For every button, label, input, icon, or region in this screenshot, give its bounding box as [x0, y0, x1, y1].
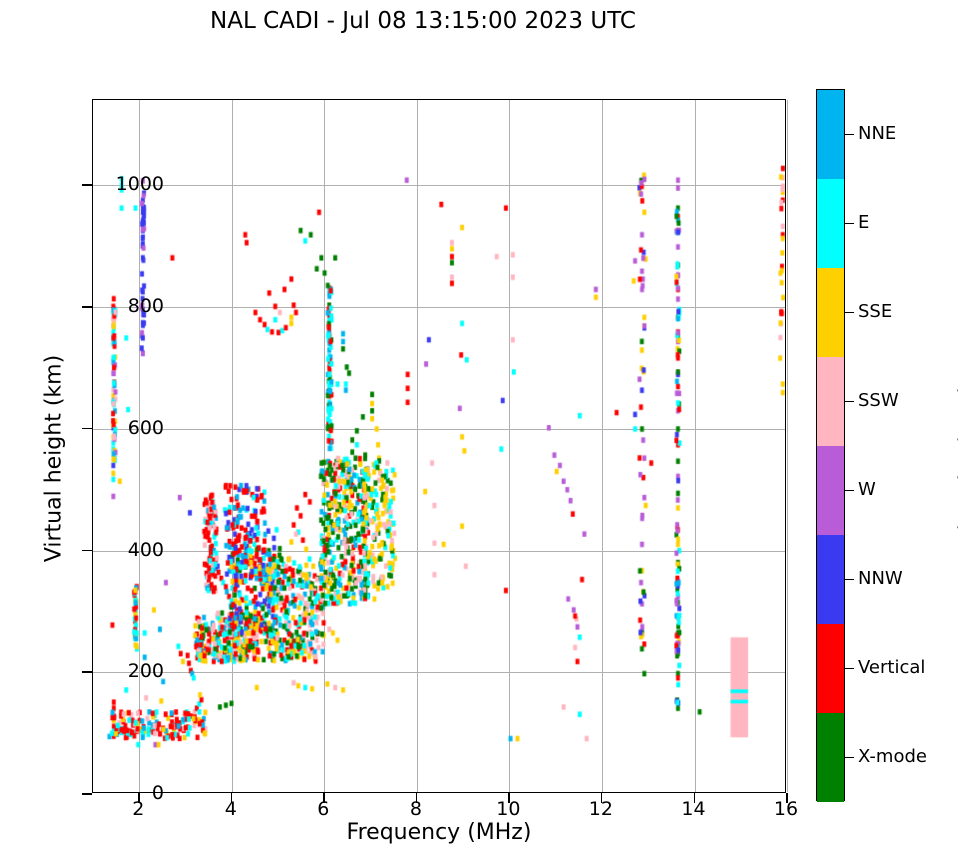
- x-tick-label: 14: [664, 798, 724, 820]
- colorbar-label-vertical: Vertical: [858, 657, 925, 678]
- colorbar-tick-mark: [845, 223, 854, 225]
- plot-area: [92, 99, 786, 793]
- x-tick-label: 6: [293, 798, 353, 820]
- colorbar-label-nne: NNE: [858, 123, 896, 144]
- colorbar-label-sse: SSE: [858, 301, 892, 322]
- colorbar-tick-mark: [845, 401, 854, 403]
- y-tick-mark: [82, 306, 92, 308]
- colorbar-segment-e[interactable]: [817, 179, 844, 268]
- y-tick-label: 800: [104, 295, 164, 317]
- ionogram-figure: NAL CADI - Jul 08 13:15:00 2023 UTC 0200…: [0, 0, 958, 857]
- y-tick-label: 1000: [104, 173, 164, 195]
- x-tick-label: 2: [108, 798, 168, 820]
- y-tick-label: 200: [104, 660, 164, 682]
- scatter-canvas: [93, 100, 785, 792]
- colorbar-label-nnw: NNW: [858, 568, 903, 589]
- colorbar-segment-x-mode[interactable]: [817, 713, 844, 802]
- colorbar-tick-mark: [845, 579, 854, 581]
- x-tick-label: 16: [756, 798, 816, 820]
- colorbar-label-w: W: [858, 479, 876, 500]
- colorbar-segment-nnw[interactable]: [817, 535, 844, 624]
- y-axis-label: Virtual height (km): [42, 209, 67, 709]
- colorbar-tick-mark: [845, 490, 854, 492]
- x-axis-label: Frequency (MHz): [92, 820, 786, 845]
- x-tick-label: 4: [201, 798, 261, 820]
- colorbar-segment-ssw[interactable]: [817, 357, 844, 446]
- y-tick-mark: [82, 793, 92, 795]
- colorbar-segment-sse[interactable]: [817, 268, 844, 357]
- colorbar-label-ssw: SSW: [858, 390, 899, 411]
- colorbar-segment-vertical[interactable]: [817, 624, 844, 713]
- y-tick-mark: [82, 184, 92, 186]
- colorbar-label-e: E: [858, 212, 869, 233]
- colorbar-segment-w[interactable]: [817, 446, 844, 535]
- colorbar-tick-mark: [845, 757, 854, 759]
- colorbar-tick-mark: [845, 134, 854, 136]
- colorbar-tick-mark: [845, 312, 854, 314]
- gridline-vertical: [787, 100, 788, 792]
- x-tick-label: 8: [386, 798, 446, 820]
- colorbar: [816, 89, 845, 801]
- figure-title: NAL CADI - Jul 08 13:15:00 2023 UTC: [0, 8, 846, 34]
- y-tick-mark: [82, 428, 92, 430]
- y-tick-label: 600: [104, 417, 164, 439]
- x-tick-label: 10: [478, 798, 538, 820]
- colorbar-tick-mark: [845, 668, 854, 670]
- x-tick-label: 12: [571, 798, 631, 820]
- y-tick-label: 400: [104, 539, 164, 561]
- colorbar-segment-nne[interactable]: [817, 90, 844, 179]
- y-tick-mark: [82, 550, 92, 552]
- colorbar-label-x-mode: X-mode: [858, 746, 927, 767]
- y-tick-mark: [82, 671, 92, 673]
